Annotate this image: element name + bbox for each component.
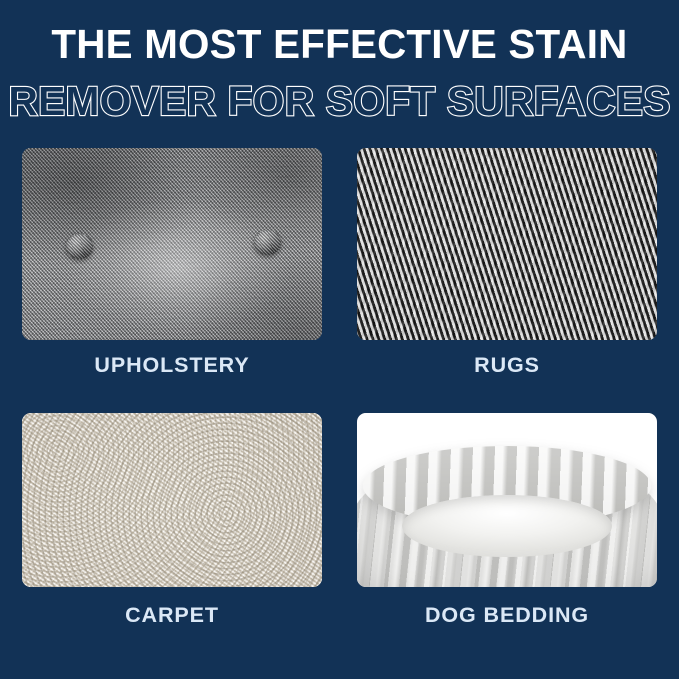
rug-texture	[357, 148, 657, 340]
tile-label-upholstery: UPHOLSTERY	[22, 353, 322, 378]
carpet-texture	[22, 413, 322, 587]
pet-bed-shape	[357, 413, 657, 587]
stain-remover-infographic: THE MOST EFFECTIVE STAIN REMOVER FOR SOF…	[0, 0, 679, 679]
tile-rugs: RUGS	[357, 148, 657, 378]
tile-upholstery: UPHOLSTERY	[22, 148, 322, 378]
tile-label-rugs: RUGS	[357, 353, 657, 378]
upholstery-image	[22, 148, 322, 340]
tile-dog-bedding: DOG BEDDING	[357, 413, 657, 628]
tile-label-carpet: CARPET	[22, 603, 322, 628]
upholstery-button-tuft-left	[66, 234, 93, 259]
dog-bedding-image	[357, 413, 657, 587]
headline-line-2: REMOVER FOR SOFT SURFACES	[2, 79, 678, 123]
headline: THE MOST EFFECTIVE STAIN REMOVER FOR SOF…	[0, 22, 679, 123]
pet-bed-cushion	[402, 495, 612, 558]
dog-bedding-texture	[357, 413, 657, 587]
upholstery-button-tuft-right	[254, 230, 281, 255]
headline-line-1: THE MOST EFFECTIVE STAIN	[5, 22, 674, 66]
rugs-image	[357, 148, 657, 340]
surface-tile-grid: UPHOLSTERY RUGS CARPET	[22, 148, 657, 640]
carpet-image	[22, 413, 322, 587]
tile-label-dog-bedding: DOG BEDDING	[357, 603, 657, 628]
tile-carpet: CARPET	[22, 413, 322, 628]
